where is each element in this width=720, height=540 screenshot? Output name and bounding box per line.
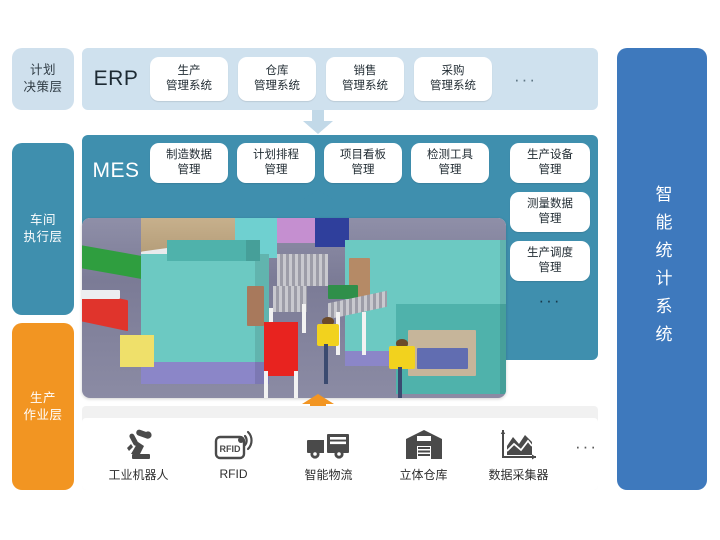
mes-title: MES <box>82 159 150 183</box>
red-conveyor <box>264 322 298 376</box>
back-wall-purple <box>277 218 315 243</box>
device-warehouse[interactable]: 立体仓库 <box>385 426 462 483</box>
factory-scene-render <box>82 218 506 398</box>
device-list: 工业机器人 RFID RFID <box>82 418 598 490</box>
mes-module-project-kanban-line1: 项目看板 <box>340 148 386 163</box>
device-smart-logistics-label: 智能物流 <box>304 466 352 483</box>
layer-prod-line1: 生产 <box>23 390 62 407</box>
mes-module-measurement-data-line2: 管理 <box>539 212 562 227</box>
erp-module-production-line1: 生产 <box>178 64 201 79</box>
mes-module-manufacturing-data-line1: 制造数据 <box>166 148 212 163</box>
machine-left-top <box>167 240 260 262</box>
mes-module-planning-scheduling[interactable]: 计划排程 管理 <box>237 143 315 183</box>
mes-module-production-dispatch[interactable]: 生产调度 管理 <box>510 241 590 281</box>
device-more-dots[interactable]: ··· <box>575 437 598 471</box>
layer-plan-decision[interactable]: 计划 决策层 <box>12 48 74 110</box>
worker-2-leg <box>398 367 402 398</box>
mes-module-measurement-data-line1: 测量数据 <box>527 197 573 212</box>
erp-module-warehouse-line2: 管理系统 <box>254 79 300 94</box>
erp-module-purchasing-line1: 采购 <box>442 64 465 79</box>
control-buttons <box>417 348 468 370</box>
device-data-collector-label: 数据采集器 <box>488 466 548 483</box>
mes-module-planning-scheduling-line1: 计划排程 <box>253 148 299 163</box>
worker-1-body <box>317 324 338 346</box>
erp-module-warehouse[interactable]: 仓库 管理系统 <box>238 57 316 101</box>
red-conveyor-leg-1 <box>264 371 268 398</box>
erp-module-production[interactable]: 生产 管理系统 <box>150 57 228 101</box>
red-conveyor-leg-2 <box>294 371 298 398</box>
erp-module-warehouse-line1: 仓库 <box>266 64 289 79</box>
erp-module-sales-line2: 管理系统 <box>342 79 388 94</box>
svg-text:RFID: RFID <box>219 444 240 454</box>
down-arrow-icon <box>300 110 336 134</box>
data-collector-chart-icon <box>498 426 540 462</box>
mes-module-manufacturing-data[interactable]: 制造数据 管理 <box>150 143 228 183</box>
layer-plan-line1: 计划 <box>23 62 62 79</box>
mes-module-production-equipment[interactable]: 生产设备 管理 <box>510 143 590 183</box>
layer-plan-line2: 决策层 <box>23 79 62 96</box>
diagram-canvas: 计划 决策层 车间 执行层 生产 作业层 ERP 生产 管理系统 仓库 管理系统 <box>0 0 720 540</box>
erp-panel: ERP 生产 管理系统 仓库 管理系统 销售 管理系统 采购 管理系统 ··· <box>82 48 598 110</box>
layer-shop-line2: 执行层 <box>23 229 62 246</box>
mes-module-inspection-tools[interactable]: 检测工具 管理 <box>411 143 489 183</box>
device-rfid[interactable]: RFID RFID <box>195 427 272 481</box>
factory-scene-image <box>82 218 506 398</box>
device-warehouse-label: 立体仓库 <box>399 466 447 483</box>
intelligent-statistics-system-label: 智能统计系统 <box>654 185 671 353</box>
worker-1-leg <box>324 344 328 384</box>
device-bar: 工业机器人 RFID RFID <box>82 418 598 490</box>
device-data-collector[interactable]: 数据采集器 <box>480 426 557 483</box>
mes-module-project-kanban[interactable]: 项目看板 管理 <box>324 143 402 183</box>
mes-module-production-equipment-line2: 管理 <box>539 163 562 178</box>
erp-more-dots[interactable]: ··· <box>502 71 537 88</box>
mes-module-inspection-tools-line2: 管理 <box>439 163 462 178</box>
layer-workshop-execution[interactable]: 车间 执行层 <box>12 143 74 315</box>
layer-shop-line1: 车间 <box>23 212 62 229</box>
device-rfid-label: RFID <box>220 467 248 481</box>
erp-module-purchasing[interactable]: 采购 管理系统 <box>414 57 492 101</box>
mes-module-production-dispatch-line1: 生产调度 <box>527 246 573 261</box>
erp-title: ERP <box>82 67 150 91</box>
mes-module-production-dispatch-line2: 管理 <box>539 261 562 276</box>
mes-more-dots[interactable]: ··· <box>539 290 562 309</box>
mes-module-inspection-tools-line1: 检测工具 <box>427 148 473 163</box>
device-industrial-robot-label: 工业机器人 <box>108 466 168 483</box>
warehouse-icon <box>404 426 444 462</box>
mes-module-measurement-data[interactable]: 测量数据 管理 <box>510 192 590 232</box>
intelligent-statistics-system-panel[interactable]: 智能统计系统 <box>617 48 707 490</box>
bidirectional-arrow-icon-top <box>300 190 336 218</box>
mes-module-project-kanban-line2: 管理 <box>352 163 375 178</box>
smart-logistics-truck-icon <box>306 426 352 462</box>
mes-side-module-list: 生产设备 管理 测量数据 管理 生产调度 管理 ··· <box>508 143 592 309</box>
layer-production-operation[interactable]: 生产 作业层 <box>12 323 74 490</box>
mes-module-list: 制造数据 管理 计划排程 管理 项目看板 管理 检测工具 管理 <box>150 143 489 183</box>
layer-prod-line2: 作业层 <box>23 407 62 424</box>
conveyor-leg-2 <box>302 304 306 333</box>
erp-module-list: 生产 管理系统 仓库 管理系统 销售 管理系统 采购 管理系统 ··· <box>150 57 537 101</box>
conveyor-leg-4 <box>362 312 366 355</box>
mes-module-manufacturing-data-line2: 管理 <box>178 163 201 178</box>
rfid-tag-icon: RFID <box>213 427 255 463</box>
device-industrial-robot[interactable]: 工业机器人 <box>100 426 177 483</box>
worker-2-body <box>389 346 414 369</box>
conveyor-center-top <box>277 254 328 286</box>
device-smart-logistics[interactable]: 智能物流 <box>290 426 367 483</box>
mes-module-planning-scheduling-line2: 管理 <box>265 163 288 178</box>
machine-left-panel <box>247 286 264 326</box>
machine-left-base <box>141 358 268 383</box>
industrial-robot-icon <box>118 426 160 462</box>
yellow-box-floor <box>120 335 154 367</box>
mes-module-production-equipment-line1: 生产设备 <box>527 148 573 163</box>
erp-module-sales[interactable]: 销售 管理系统 <box>326 57 404 101</box>
erp-module-sales-line1: 销售 <box>354 64 377 79</box>
erp-module-purchasing-line2: 管理系统 <box>430 79 476 94</box>
erp-module-production-line2: 管理系统 <box>166 79 212 94</box>
crate-white-lower <box>82 290 120 299</box>
